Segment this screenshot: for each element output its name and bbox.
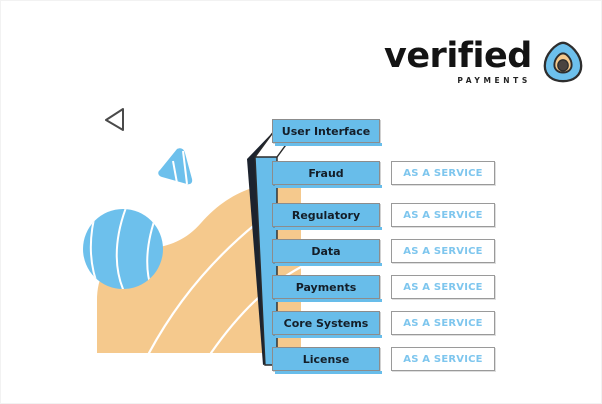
- layer-label: License: [303, 353, 350, 366]
- as-a-service-label: AS A SERVICE: [403, 282, 482, 293]
- brand-tagline: PAYMENTS: [457, 77, 531, 85]
- verified-payments-logo-mark-icon: [540, 39, 586, 85]
- stack-row-user-interface[interactable]: User Interface AS A SERVICE: [272, 119, 501, 143]
- layer-label: Fraud: [308, 167, 343, 180]
- stack-rows: User Interface AS A SERVICE Fraud AS A S…: [272, 113, 501, 375]
- brand-wordmark: verified PAYMENTS: [384, 39, 532, 85]
- blue-triangle-shape: [158, 148, 192, 184]
- as-a-service-badge[interactable]: AS A SERVICE: [391, 203, 495, 227]
- stack-row-data[interactable]: Data AS A SERVICE: [272, 239, 501, 263]
- as-a-service-label: AS A SERVICE: [403, 354, 482, 365]
- layer-tile[interactable]: Regulatory: [272, 203, 380, 227]
- layer-tile[interactable]: User Interface: [272, 119, 380, 143]
- stack-row-payments[interactable]: Payments AS A SERVICE: [272, 275, 501, 299]
- brand-logo: verified PAYMENTS: [384, 34, 554, 90]
- layer-tile[interactable]: License: [272, 347, 380, 371]
- as-a-service-badge[interactable]: AS A SERVICE: [391, 311, 495, 335]
- layer-tile[interactable]: Core Systems: [272, 311, 380, 335]
- layer-tile[interactable]: Payments: [272, 275, 380, 299]
- layer-tile[interactable]: Data: [272, 239, 380, 263]
- stack-row-core-systems[interactable]: Core Systems AS A SERVICE: [272, 311, 501, 335]
- striped-circle-shape: [83, 205, 163, 301]
- as-a-service-label: AS A SERVICE: [403, 318, 482, 329]
- layer-label: Core Systems: [284, 317, 369, 330]
- layer-tile[interactable]: Fraud: [272, 161, 380, 185]
- stack-row-regulatory[interactable]: Regulatory AS A SERVICE: [272, 203, 501, 227]
- diagram-canvas: verified PAYMENTS User Interface: [0, 0, 602, 404]
- outline-triangle-shape: [106, 109, 123, 130]
- as-a-service-label: AS A SERVICE: [403, 168, 482, 179]
- as-a-service-badge[interactable]: AS A SERVICE: [391, 161, 495, 185]
- layer-label: Payments: [296, 281, 357, 294]
- as-a-service-badge[interactable]: AS A SERVICE: [391, 239, 495, 263]
- service-stack-diagram: User Interface AS A SERVICE Fraud AS A S…: [241, 113, 501, 375]
- as-a-service-badge[interactable]: AS A SERVICE: [391, 275, 495, 299]
- layer-label: Regulatory: [292, 209, 360, 222]
- stack-row-fraud[interactable]: Fraud AS A SERVICE: [272, 161, 501, 185]
- stack-row-license[interactable]: License AS A SERVICE: [272, 347, 501, 371]
- as-a-service-badge[interactable]: AS A SERVICE: [391, 347, 495, 371]
- as-a-service-label: AS A SERVICE: [403, 210, 482, 221]
- brand-name: verified: [384, 39, 532, 74]
- layer-label: Data: [311, 245, 340, 258]
- as-a-service-label: AS A SERVICE: [403, 246, 482, 257]
- layer-label: User Interface: [282, 125, 370, 138]
